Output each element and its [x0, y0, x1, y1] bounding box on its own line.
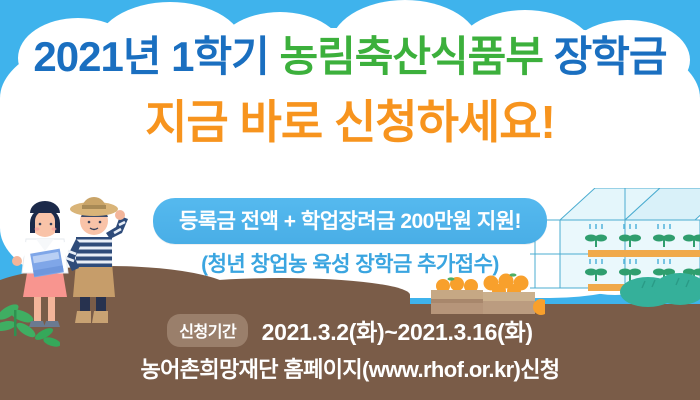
- period-value: 2021.3.2(화)~2021.3.16(화): [262, 313, 533, 347]
- highlight-pill-row: 등록금 전액 + 학업장려금 200만원 지원!: [0, 198, 700, 244]
- apply-site-line: 농어촌희망재단 홈페이지(www.rhof.or.kr)신청: [0, 352, 700, 384]
- benefit-subnote: (청년 창업농 육성 장학금 추가접수): [0, 248, 700, 278]
- application-period-row: 신청기간 2021.3.2(화)~2021.3.16(화): [0, 313, 700, 347]
- orange-crates-illustration: [425, 272, 545, 318]
- benefit-pill: 등록금 전액 + 학업장려금 200만원 지원!: [153, 198, 547, 244]
- period-badge: 신청기간: [167, 314, 248, 347]
- promo-banner: 2021년 1학기 농림축산식품부 장학금 지금 바로 신청하세요! 등록금 전…: [0, 0, 700, 400]
